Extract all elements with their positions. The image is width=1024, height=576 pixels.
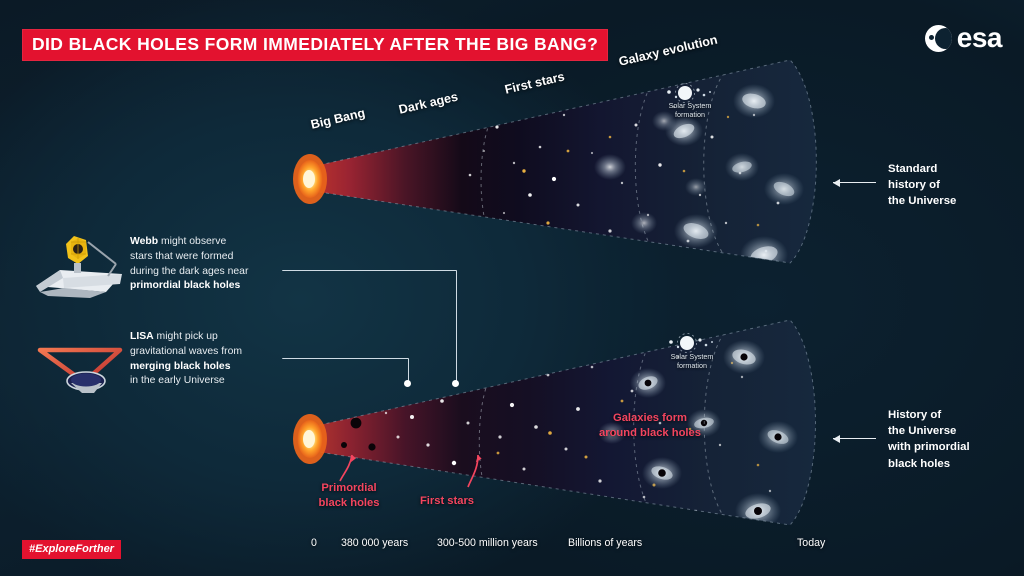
timeline-label-today: Today — [797, 537, 825, 549]
solar-system-icon — [656, 83, 714, 103]
arrow-primordial-history — [833, 438, 876, 439]
webb-text-3: during the dark ages near — [130, 266, 248, 277]
lisa-observatory-icon — [32, 334, 128, 396]
solar-system-line1: Solar System — [655, 101, 725, 110]
callout-line2: around black holes — [571, 426, 729, 441]
callout-line1: First stars — [410, 494, 484, 509]
lisa-text-2: gravitational waves from — [130, 346, 242, 357]
callout-line1: Primordial — [305, 481, 393, 496]
timeline-label-380k: 380 000 years — [341, 537, 408, 549]
esa-wordmark: esa — [957, 24, 1002, 52]
lisa-text-4: in the early Universe — [130, 375, 225, 386]
lisa-text-1: might pick up — [154, 331, 218, 342]
label-line-3: with primordial — [888, 439, 970, 455]
primordial-history-label: History of the Universe with primordial … — [888, 407, 970, 472]
webb-label: Webb — [130, 236, 158, 247]
lisa-text-3: merging black holes — [130, 361, 230, 372]
timeline-label-0: 0 — [311, 537, 317, 549]
solar-system-line1-bottom: Solar System — [657, 352, 727, 361]
webb-annotation-text: Webb might observe stars that were forme… — [130, 235, 280, 294]
esa-globe-icon — [925, 25, 952, 52]
infographic-canvas: DID BLACK HOLES FORM IMMEDIATELY AFTER T… — [0, 0, 1024, 576]
solar-system-label-top: Solar System formation — [655, 101, 725, 119]
timeline-label-300-500m: 300-500 million years — [437, 537, 538, 549]
solar-system-label-bottom: Solar System formation — [657, 352, 727, 370]
label-line-2: the Universe — [888, 423, 970, 439]
jwst-telescope-icon — [30, 228, 130, 300]
label-line-4: black holes — [888, 456, 970, 472]
arrow-standard-history — [833, 182, 876, 183]
solar-system-icon-bottom — [658, 333, 716, 353]
callout-galaxies-form: Galaxies form around black holes — [571, 411, 729, 440]
lisa-annotation-text: LISA might pick up gravitational waves f… — [130, 330, 280, 389]
callout-primordial-black-holes: Primordial black holes — [305, 481, 393, 510]
standard-universe-cone — [292, 55, 832, 270]
webb-text-1: might observe — [158, 236, 226, 247]
webb-text-2: stars that were formed — [130, 251, 233, 262]
esa-logo: esa — [925, 24, 1002, 52]
hashtag-badge: #ExploreForther — [22, 540, 121, 559]
label-line-1: History of — [888, 407, 970, 423]
label-line-3: the Universe — [888, 193, 956, 209]
callout-line1: Galaxies form — [571, 411, 729, 426]
label-line-1: Standard — [888, 161, 956, 177]
lisa-label: LISA — [130, 331, 154, 342]
timeline-label-billions: Billions of years — [568, 537, 642, 549]
webb-text-4: primordial black holes — [130, 280, 240, 291]
connector-lisa — [282, 358, 409, 385]
callout-line2: black holes — [305, 496, 393, 511]
label-line-2: history of — [888, 177, 956, 193]
connector-dot-lisa — [404, 380, 411, 387]
solar-system-line2-bottom: formation — [657, 361, 727, 370]
solar-system-line2: formation — [655, 110, 725, 119]
callout-first-stars: First stars — [410, 494, 484, 509]
connector-dot-webb — [452, 380, 459, 387]
standard-history-label: Standard history of the Universe — [888, 161, 956, 210]
